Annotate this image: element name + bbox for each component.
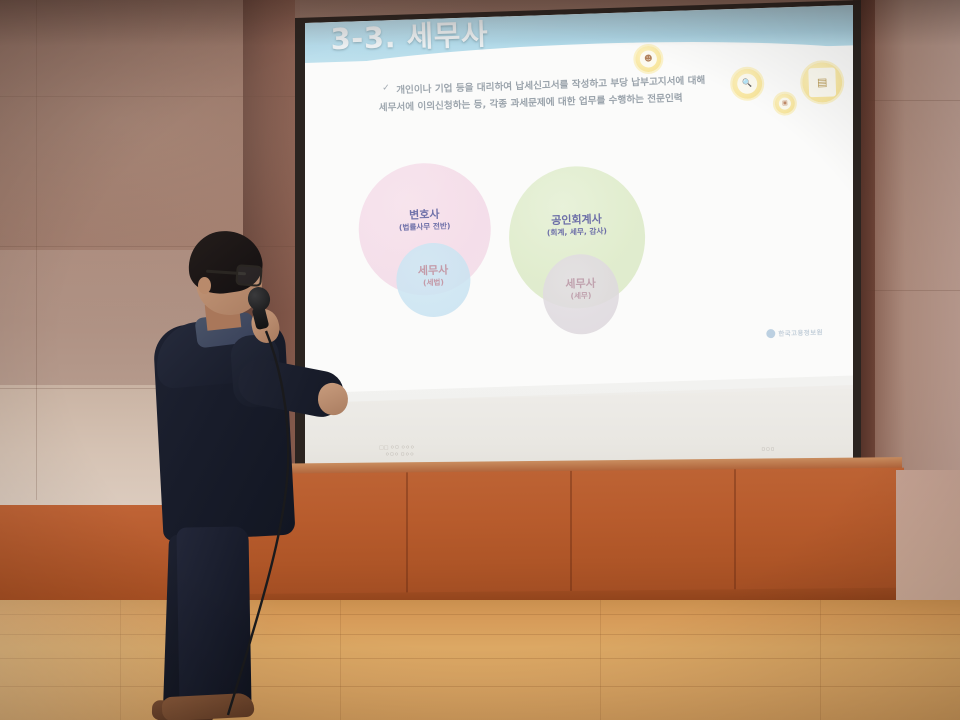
circle-tax-in-cpa-label: 세무사 (세무) (542, 277, 619, 303)
glasses-lens-icon (235, 264, 262, 287)
slide-footer-logo: 한국고용정보원 (766, 326, 823, 338)
projected-slide: 3-3. 세무사 ☻ 🔍 ▣ ▤ (305, 5, 853, 403)
circle-lawyer-label: 변호사 (법률사무 전반) (358, 207, 491, 235)
projection-board: 3-3. 세무사 ☻ 🔍 ▣ ▤ (305, 5, 853, 473)
whiteboard-mark: ㅁㅁㅁ (761, 447, 775, 453)
logo-mark-icon (766, 328, 775, 337)
wall-seam (860, 290, 960, 291)
lecture-hall-photo: 3-3. 세무사 ☻ 🔍 ▣ ▤ (0, 0, 960, 720)
circle-tax-in-lawyer-label: 세무사 (세법) (396, 264, 471, 290)
presenter-ear (198, 277, 211, 294)
whiteboard-mark: ㅇㅁㅇ ㅁㅇㅇ (385, 452, 414, 458)
stage-skirt-right (896, 470, 960, 610)
bullet-check-icon: ✓ (382, 83, 390, 93)
whiteboard-mark: □□ ㅇㅁ ㅇㅇㅇ (379, 445, 415, 451)
presenter-leg-front (176, 526, 251, 709)
wall-seam (36, 0, 37, 500)
presenter (140, 215, 355, 720)
wall-seam (0, 96, 300, 97)
presenter-shoe-front (161, 693, 254, 720)
circle-cpa-label: 공인회계사 (회계, 세무, 감사) (508, 212, 645, 240)
wall-seam (860, 100, 960, 101)
wall-panel-right (860, 0, 960, 470)
